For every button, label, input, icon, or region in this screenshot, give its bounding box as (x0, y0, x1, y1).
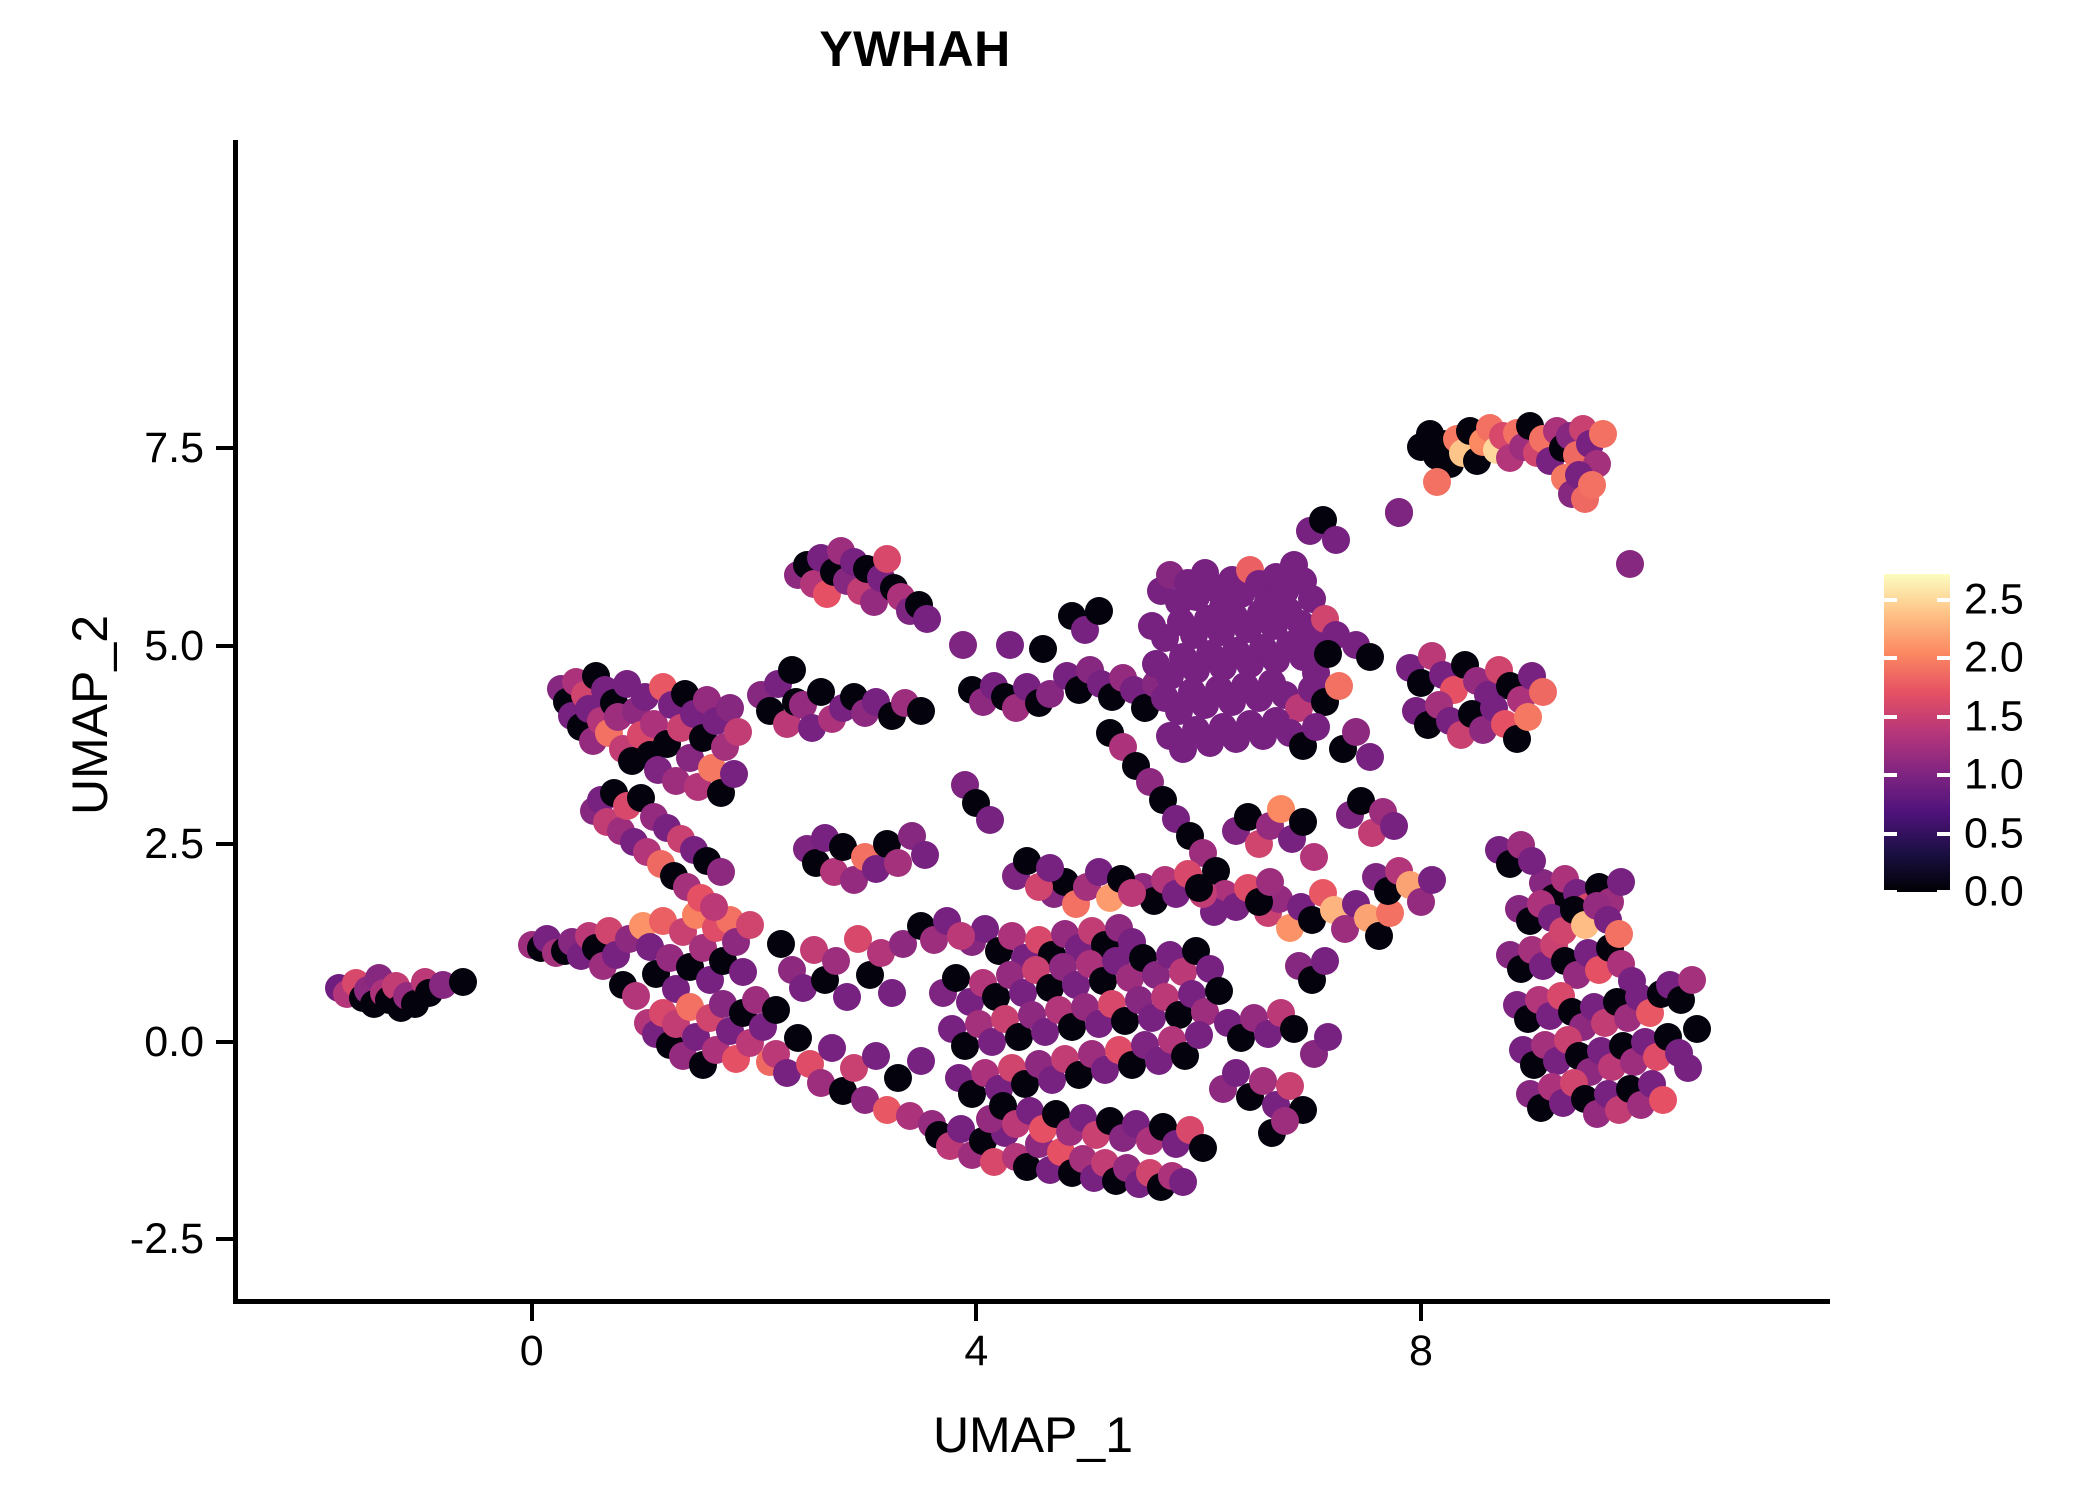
scatter-point (1514, 703, 1542, 731)
scatter-point (1302, 713, 1330, 741)
y-tick-mark (216, 1040, 234, 1044)
scatter-point (947, 922, 975, 950)
colorbar-tick-mark (1937, 656, 1950, 660)
colorbar-tick-mark (1937, 832, 1950, 836)
scatter-point (822, 947, 850, 975)
scatter-point (907, 697, 935, 725)
scatter-point (1169, 1168, 1197, 1196)
scatter-point (1578, 471, 1606, 499)
page-title: YWHAH (0, 24, 1830, 74)
x-tick-mark (530, 1303, 534, 1321)
scatter-point (1423, 468, 1451, 496)
scatter-point (1356, 743, 1384, 771)
scatter-point (1385, 498, 1413, 526)
scatter-point (1300, 843, 1328, 871)
scatter-point (1029, 635, 1057, 663)
x-tick-label: 0 (520, 1330, 544, 1373)
scatter-point (949, 631, 977, 659)
scatter-point (878, 979, 906, 1007)
scatter-point (720, 760, 748, 788)
scatter-point (1256, 868, 1284, 896)
x-tick-mark (974, 1303, 978, 1321)
colorbar-tick-label: 1.0 (1964, 754, 2024, 797)
colorbar-tick-label: 1.5 (1964, 695, 2024, 738)
scatter-point (1616, 550, 1644, 578)
scatter-point (1683, 1015, 1711, 1043)
scatter-point (778, 656, 806, 684)
scatter-point (767, 930, 795, 958)
scatter-point (1605, 920, 1633, 948)
x-axis-title: UMAP_1 (236, 1410, 1830, 1460)
scatter-point (996, 631, 1024, 659)
scatter-point (862, 1042, 890, 1070)
scatter-point (1380, 812, 1408, 840)
x-tick-label: 8 (1409, 1330, 1433, 1373)
scatter-point (1322, 526, 1350, 554)
scatter-point (1529, 678, 1557, 706)
scatter-point (762, 996, 790, 1024)
scatter-point (729, 958, 757, 986)
colorbar-tick-mark (1884, 598, 1897, 602)
scatter-point (911, 841, 939, 869)
colorbar-tick-label: 0.5 (1964, 812, 2024, 855)
colorbar-tick-mark (1937, 890, 1950, 894)
scatter-point (736, 911, 764, 939)
colorbar-tick-mark (1937, 773, 1950, 777)
y-tick-label: 0.0 (144, 1021, 204, 1064)
scatter-point (1678, 966, 1706, 994)
scatter-point (913, 605, 941, 633)
scatter-point (1342, 718, 1370, 746)
y-tick-label: 7.5 (144, 427, 204, 470)
x-axis-line (233, 1299, 1830, 1304)
colorbar-tick-mark (1884, 656, 1897, 660)
y-tick-label: 5.0 (144, 625, 204, 668)
scatter-point (1311, 947, 1339, 975)
scatter-point (784, 1024, 812, 1052)
scatter-point (907, 1047, 935, 1075)
colorbar-tick-label: 2.0 (1964, 637, 2024, 680)
scatter-point (1271, 1107, 1299, 1135)
y-tick-mark (216, 1237, 234, 1241)
scatter-point (1418, 866, 1446, 894)
scatter-point (1280, 1015, 1308, 1043)
scatter-point (1118, 879, 1146, 907)
colorbar-tick-mark (1884, 832, 1897, 836)
y-tick-label: 2.5 (144, 823, 204, 866)
umap-feature-plot: YWHAH -2.50.02.55.07.5 048 UMAP_1 UMAP_2… (0, 0, 2100, 1500)
y-tick-mark (216, 842, 234, 846)
scatter-point (1189, 1134, 1217, 1162)
y-tick-label: -2.5 (130, 1218, 204, 1261)
scatter-point (1356, 643, 1384, 671)
y-axis-title: UMAP_2 (65, 315, 115, 1115)
scatter-points-layer (236, 140, 1830, 1301)
x-tick-label: 4 (964, 1330, 988, 1373)
color-legend: 0.00.51.01.52.02.5 (1884, 574, 2084, 904)
scatter-point (1325, 672, 1353, 700)
scatter-point (1185, 1021, 1213, 1049)
scatter-point (724, 718, 752, 746)
scatter-point (1649, 1086, 1677, 1114)
y-axis-line (233, 140, 238, 1304)
scatter-point (1314, 640, 1342, 668)
scatter-point (1205, 977, 1233, 1005)
scatter-point (707, 858, 735, 886)
colorbar-tick-label: 2.5 (1964, 578, 2024, 621)
colorbar-tick-mark (1937, 598, 1950, 602)
colorbar-tick-mark (1884, 715, 1897, 719)
scatter-point (1607, 868, 1635, 896)
scatter-point (818, 1034, 846, 1062)
colorbar-tick-mark (1884, 773, 1897, 777)
y-tick-mark (216, 446, 234, 450)
y-tick-mark (216, 644, 234, 648)
scatter-point (1185, 874, 1213, 902)
scatter-point (1085, 597, 1113, 625)
colorbar-gradient (1884, 574, 1950, 892)
x-tick-mark (1419, 1303, 1423, 1321)
colorbar-tick-mark (1884, 890, 1897, 894)
scatter-point (1674, 1054, 1702, 1082)
plot-panel (236, 140, 1830, 1301)
scatter-point (622, 982, 650, 1010)
scatter-point (884, 849, 912, 877)
scatter-point (700, 893, 728, 921)
scatter-point (976, 806, 1004, 834)
scatter-point (1589, 420, 1617, 448)
scatter-point (1289, 808, 1317, 836)
scatter-point (1036, 854, 1064, 882)
colorbar-tick-mark (1937, 715, 1950, 719)
scatter-point (449, 968, 477, 996)
scatter-point (873, 545, 901, 573)
colorbar-tick-label: 0.0 (1964, 871, 2024, 914)
scatter-point (1314, 1023, 1342, 1051)
scatter-point (833, 983, 861, 1011)
